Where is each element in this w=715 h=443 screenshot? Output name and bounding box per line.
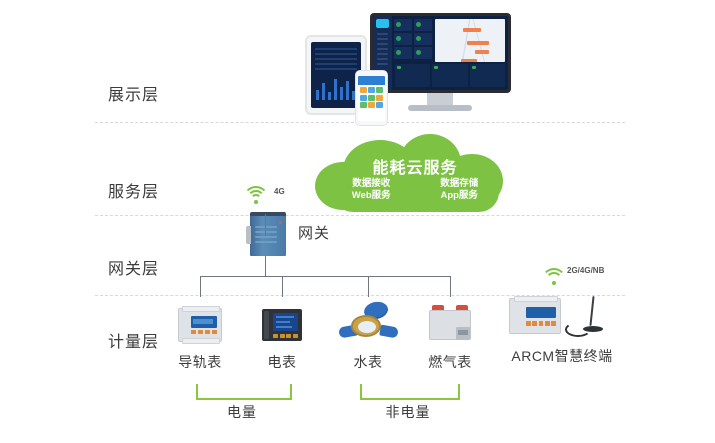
monitor-screen (373, 16, 508, 90)
connector-branch-3 (368, 276, 369, 297)
arcm-signal-label: 2G/4G/NB (567, 266, 604, 275)
cloud-service-columns: 数据接收 Web服务 数据存储 App服务 (327, 178, 503, 202)
monitor-stand-base (408, 105, 472, 111)
arcm-terminal-node: 2G/4G/NB ARCM智慧终端 (497, 268, 627, 368)
tablet-screen (311, 42, 361, 108)
cloud-col2-line1: 数据存储 (440, 178, 478, 190)
layer-label-gateway: 网关层 (108, 255, 198, 279)
monitor-bottom-panels (392, 64, 508, 90)
display-devices-group (305, 10, 535, 118)
water-meter-icon (337, 300, 399, 348)
layer-label-display: 展示层 (108, 81, 198, 105)
connector-branch-2 (282, 276, 283, 297)
meter-label-water: 水表 (337, 352, 399, 372)
meter-label-din-rail: 导轨表 (169, 352, 231, 372)
monitor-device-icon (370, 13, 511, 93)
monitor-stat-cards (392, 16, 434, 64)
cloud-column-receive: 数据接收 Web服务 (352, 178, 391, 202)
meter-din-rail: 导轨表 (169, 300, 231, 372)
gateway-label: 网关 (298, 222, 330, 243)
wifi-icon (243, 186, 269, 206)
phone-device-icon (355, 70, 388, 126)
monitor-map-panel (435, 19, 505, 62)
gateway-device-icon (246, 212, 290, 256)
cloud-col2-line2: App服务 (440, 190, 478, 202)
architecture-diagram: 展示层 服务层 网关层 计量层 (0, 0, 715, 443)
connector-gateway-to-cloud (265, 214, 266, 236)
phone-screen (358, 76, 385, 121)
meter-water: 水表 (337, 300, 399, 372)
bracket-label-non-electric: 非电量 (360, 402, 456, 422)
bracket-label-electric: 电量 (196, 402, 288, 422)
arcm-device-icon (507, 296, 617, 340)
meter-gas: 燃气表 (419, 300, 481, 372)
antenna-rod (589, 296, 594, 326)
bracket-non-electric (360, 384, 460, 400)
connector-branch-1 (200, 276, 201, 297)
electric-meter-icon (251, 300, 313, 348)
connector-branch-4 (450, 276, 451, 297)
layer-label-service: 服务层 (108, 178, 198, 202)
meter-electric: 电表 (251, 300, 313, 372)
wifi-icon (542, 268, 566, 287)
meter-label-electric: 电表 (251, 352, 313, 372)
bracket-electric (196, 384, 292, 400)
antenna-base (583, 326, 603, 332)
cloud-col1-line1: 数据接收 (352, 178, 391, 190)
cloud-title: 能耗云服务 (315, 154, 515, 178)
cloud-col1-line2: Web服务 (352, 190, 391, 202)
gateway-signal-label: 4G (274, 187, 285, 196)
arcm-terminal-label: ARCM智慧终端 (497, 346, 627, 366)
din-rail-meter-icon (169, 300, 231, 348)
cloud-column-storage: 数据存储 App服务 (440, 178, 478, 202)
connector-gateway-drop (265, 256, 266, 276)
meter-label-gas: 燃气表 (419, 352, 481, 372)
tablet-chart (316, 74, 360, 100)
connector-bus (200, 276, 451, 277)
gas-meter-icon (419, 300, 481, 348)
